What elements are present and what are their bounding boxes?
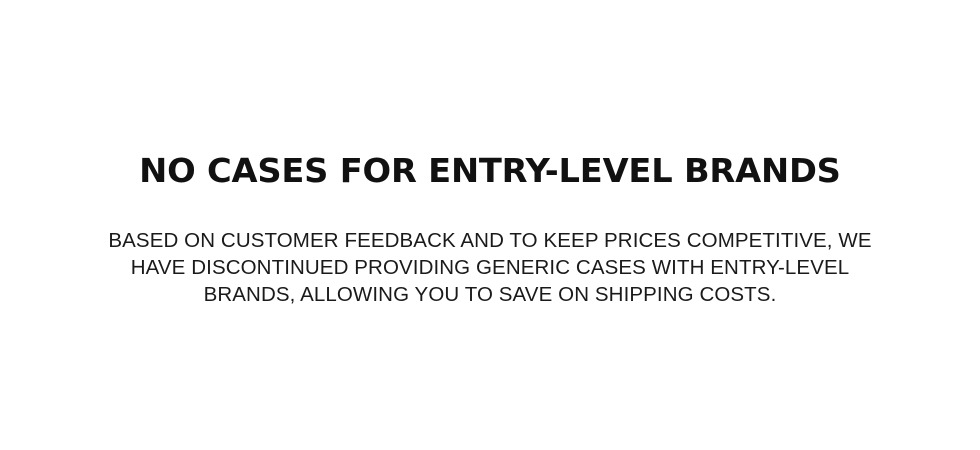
- promo-body-text: BASED ON CUSTOMER FEEDBACK AND TO KEEP P…: [90, 227, 890, 308]
- promo-banner: NO CASES FOR ENTRY-LEVEL BRANDS BASED ON…: [0, 0, 980, 450]
- promo-heading: NO CASES FOR ENTRY-LEVEL BRANDS: [139, 151, 841, 191]
